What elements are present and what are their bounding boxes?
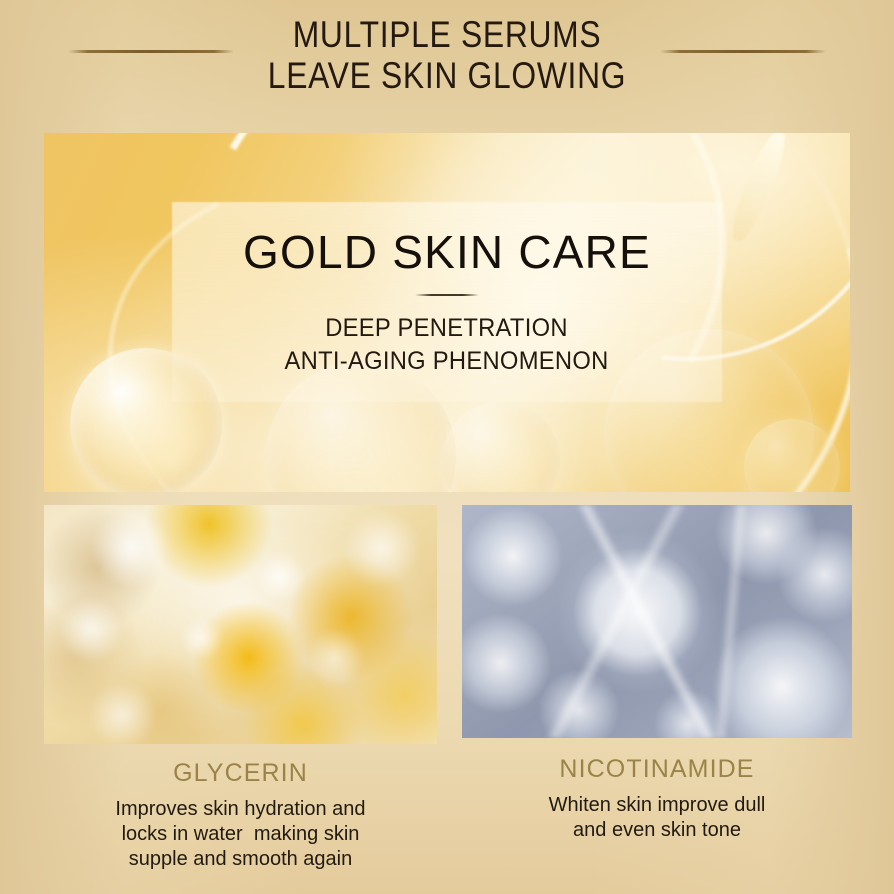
- nicotinamide-caption: NICOTINAMIDE Whiten skin improve dull an…: [462, 738, 852, 843]
- glycerin-desc-line1: Improves skin hydration and: [44, 797, 437, 822]
- hero-subtitle-line1: DEEP PENETRATION: [285, 312, 609, 345]
- hero-subtitle: DEEP PENETRATION ANTI-AGING PHENOMENON: [285, 312, 609, 378]
- nicotinamide-image: [462, 505, 852, 738]
- ingredient-name-nicotinamide: NICOTINAMIDE: [462, 754, 852, 784]
- ingredient-description-nicotinamide: Whiten skin improve dull and even skin t…: [462, 793, 852, 843]
- hero-title: GOLD SKIN CARE: [243, 227, 651, 277]
- nicotinamide-desc-line1: Whiten skin improve dull: [462, 793, 852, 818]
- page-title-line1: MULTIPLE SERUMS: [293, 14, 602, 55]
- ingredient-card-nicotinamide: NICOTINAMIDE Whiten skin improve dull an…: [462, 505, 852, 843]
- glycerin-caption: GLYCERIN Improves skin hydration and loc…: [44, 744, 437, 872]
- nicotinamide-desc-line2: and even skin tone: [462, 818, 852, 843]
- glycerin-image: [44, 505, 437, 744]
- hero-divider: [415, 294, 479, 296]
- ingredient-description-glycerin: Improves skin hydration and locks in wat…: [44, 797, 437, 872]
- hero-text-block: GOLD SKIN CARE DEEP PENETRATION ANTI-AGI…: [44, 133, 850, 492]
- ingredient-name-glycerin: GLYCERIN: [44, 758, 437, 788]
- hero-subtitle-line2: ANTI-AGING PHENOMENON: [285, 345, 609, 378]
- hero-banner: GOLD SKIN CARE DEEP PENETRATION ANTI-AGI…: [44, 133, 850, 492]
- product-infographic-poster: MULTIPLE SERUMS LEAVE SKIN GLOWING GOLD …: [0, 0, 894, 894]
- header: MULTIPLE SERUMS LEAVE SKIN GLOWING: [0, 0, 894, 118]
- glycerin-desc-line3: supple and smooth again: [44, 847, 437, 872]
- ingredient-card-glycerin: GLYCERIN Improves skin hydration and loc…: [44, 505, 437, 872]
- glycerin-desc-line2: locks in water making skin: [44, 822, 437, 847]
- page-title-line2: LEAVE SKIN GLOWING: [63, 55, 832, 96]
- page-title: MULTIPLE SERUMS LEAVE SKIN GLOWING: [63, 14, 832, 96]
